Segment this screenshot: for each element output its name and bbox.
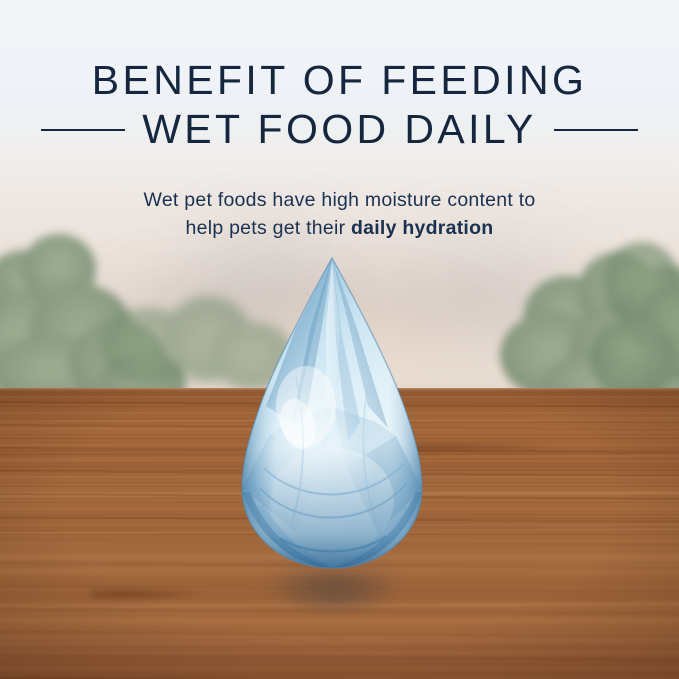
- tree-cluster-right-edge: [590, 236, 679, 402]
- droplet-soft-shadow: [262, 588, 412, 614]
- subhead-emphasis: daily hydration: [351, 217, 493, 239]
- subhead-line-2: help pets get their daily hydration: [0, 214, 679, 242]
- promo-poster: BENEFIT OF FEEDING WET FOOD DAILY Wet pe…: [0, 0, 679, 679]
- headline: BENEFIT OF FEEDING WET FOOD DAILY: [0, 56, 679, 154]
- headline-line-2-row: WET FOOD DAILY: [0, 105, 679, 154]
- water-droplet-icon: [236, 256, 428, 570]
- subhead-line-2-prefix: help pets get their: [186, 217, 351, 239]
- headline-line-1: BENEFIT OF FEEDING: [0, 56, 679, 105]
- subhead: Wet pet foods have high moisture content…: [0, 186, 679, 242]
- decorative-rule-right: [554, 129, 638, 131]
- subhead-line-1: Wet pet foods have high moisture content…: [0, 186, 679, 214]
- headline-line-2: WET FOOD DAILY: [142, 105, 537, 154]
- decorative-rule-left: [41, 129, 125, 131]
